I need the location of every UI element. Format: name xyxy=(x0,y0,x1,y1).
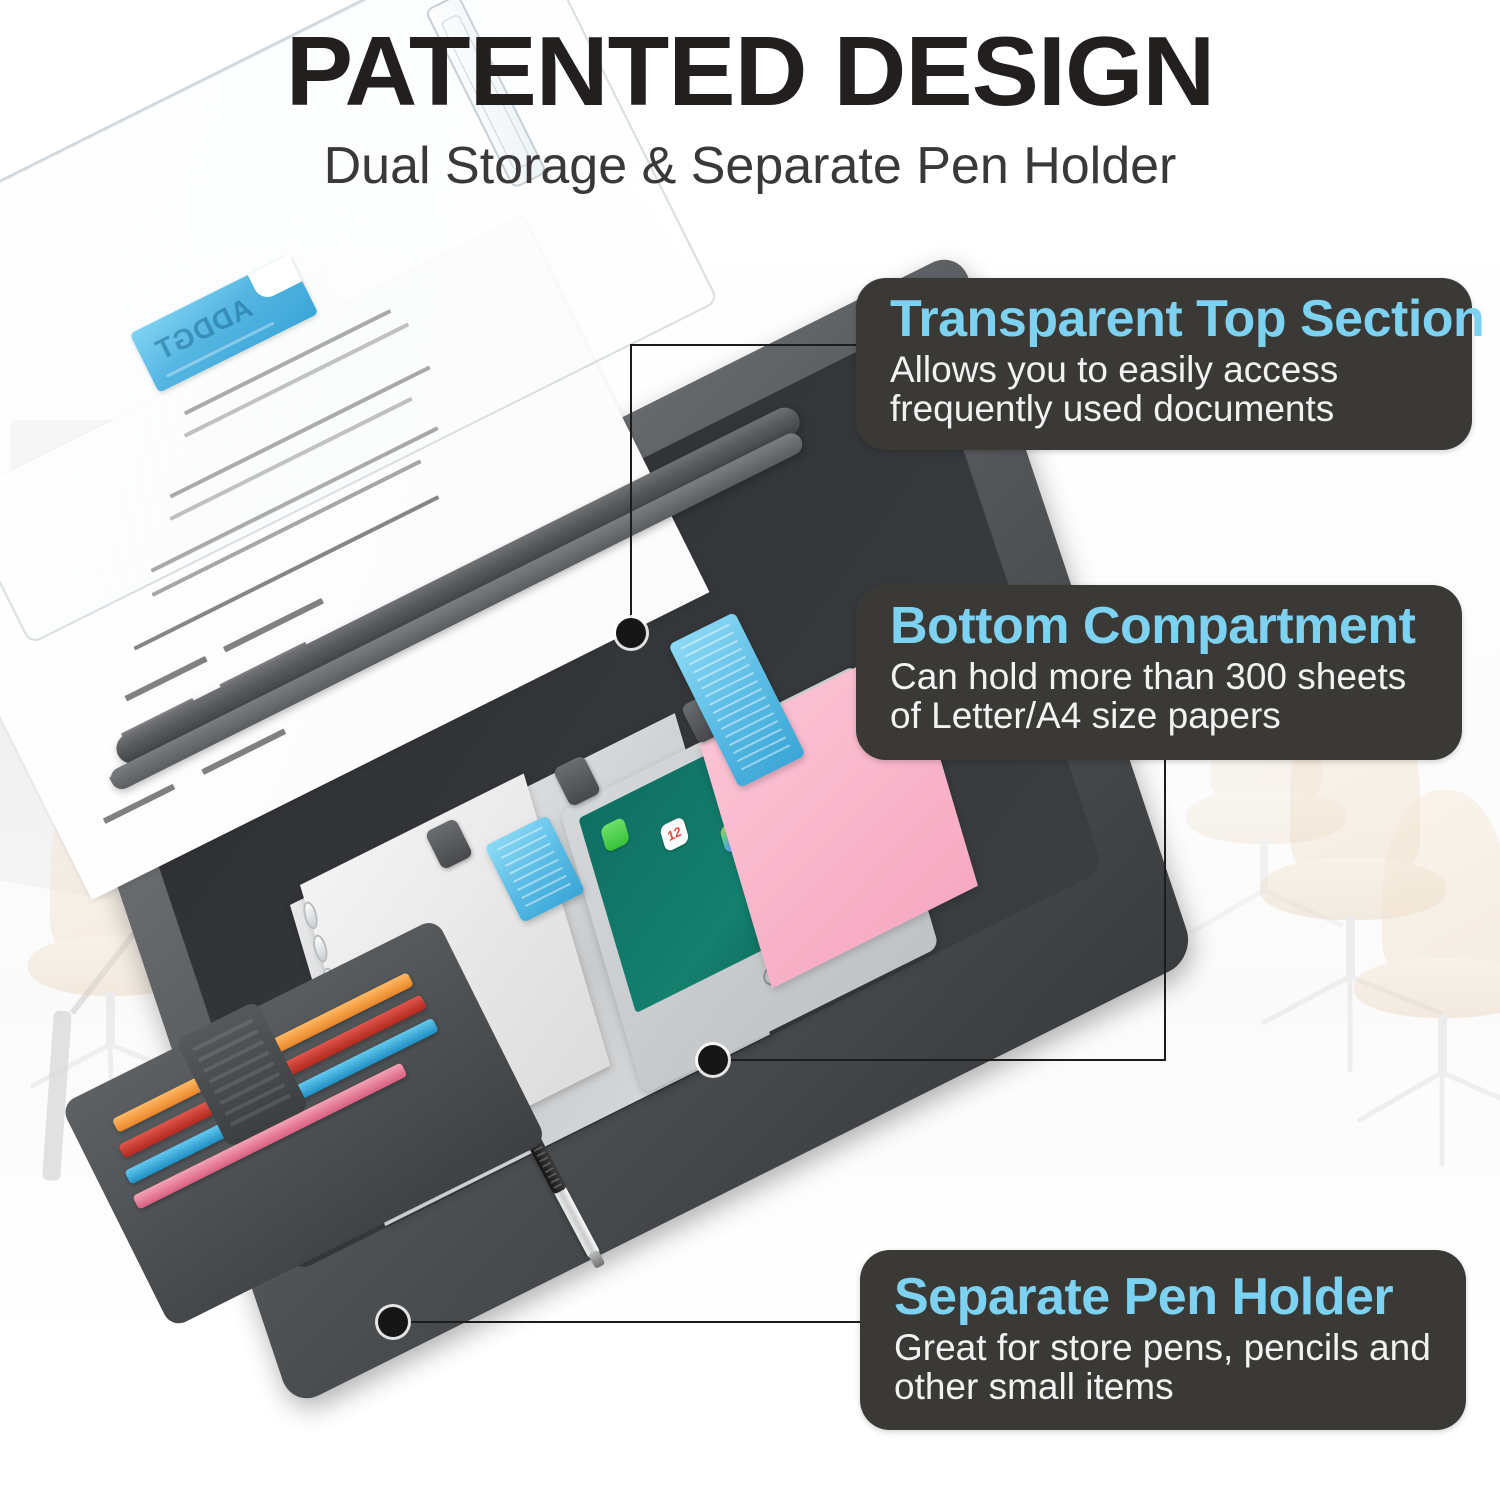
callout-1-description: Allows you to easily access frequently u… xyxy=(890,351,1446,428)
leader-line-3-horizontal xyxy=(392,1321,862,1323)
leader-line-1-vertical xyxy=(630,344,632,632)
leader-dot-3 xyxy=(378,1307,408,1337)
callout-2-title: Bottom Compartment xyxy=(890,599,1436,654)
header: PATENTED DESIGN Dual Storage & Separate … xyxy=(0,0,1500,192)
calendar-icon: 12 xyxy=(659,816,690,853)
callout-3-title: Separate Pen Holder xyxy=(894,1270,1440,1325)
callout-transparent-top-section[interactable]: Transparent Top Section Allows you to ea… xyxy=(856,278,1472,450)
leader-dot-1 xyxy=(616,618,646,648)
leader-line-1-horizontal xyxy=(630,344,858,346)
callout-bottom-compartment[interactable]: Bottom Compartment Can hold more than 30… xyxy=(856,585,1462,760)
page-title: PATENTED DESIGN xyxy=(0,22,1500,120)
callout-2-description: Can hold more than 300 sheets of Letter/… xyxy=(890,658,1436,735)
leader-dot-2 xyxy=(698,1045,728,1075)
page-subtitle: Dual Storage & Separate Pen Holder xyxy=(0,140,1500,192)
infographic-canvas: PATENTED DESIGN Dual Storage & Separate … xyxy=(0,0,1500,1500)
leader-line-2-horizontal xyxy=(712,1059,1166,1061)
callout-1-title: Transparent Top Section xyxy=(890,292,1446,347)
callout-3-description: Great for store pens, pencils and other … xyxy=(894,1329,1440,1406)
calendar-day-label: 12 xyxy=(666,823,683,844)
leader-line-2-vertical xyxy=(1164,758,1166,1060)
callout-separate-pen-holder[interactable]: Separate Pen Holder Great for store pens… xyxy=(860,1250,1466,1430)
facetime-icon xyxy=(600,816,631,853)
